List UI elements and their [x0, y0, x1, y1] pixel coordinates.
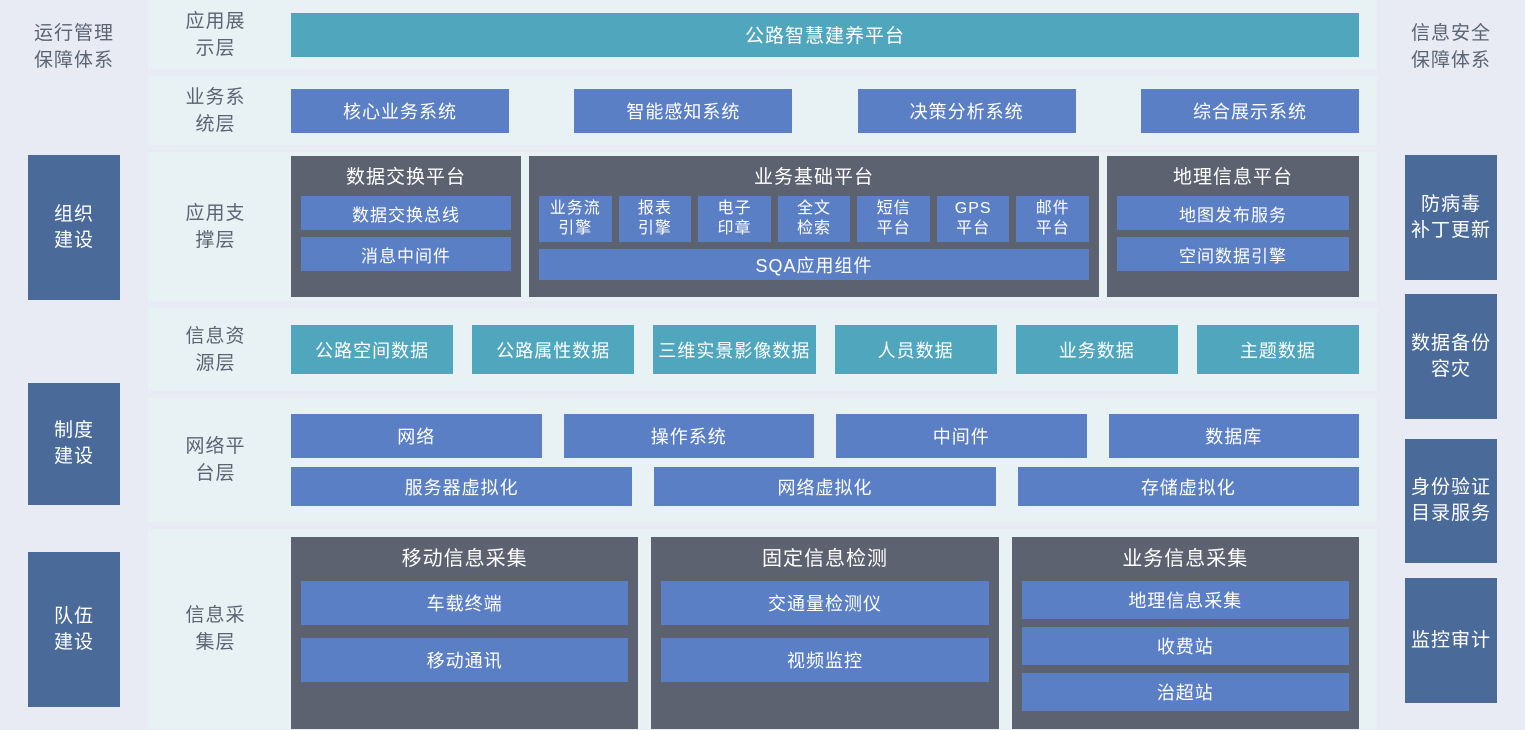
engine-mail-platform-line2: 平台 [1036, 219, 1070, 239]
message-middleware[interactable]: 消息中间件 [301, 237, 511, 271]
engine-e-seal[interactable]: 电子 印章 [698, 196, 771, 242]
layer-label-network-line1: 网络平 [185, 433, 245, 460]
panel-gis: 地理信息平台 地图发布服务 空间数据引擎 [1107, 156, 1359, 297]
engine-fulltext-search-line2: 检索 [797, 219, 831, 239]
layer-label-resource-line2: 源层 [185, 350, 245, 377]
network-item-server-virtualization[interactable]: 服务器虚拟化 [291, 467, 632, 506]
panel-business-platform: 业务基础平台 业务流 引擎 报表 引擎 [529, 156, 1099, 297]
business-platform-engines: 业务流 引擎 报表 引擎 [539, 196, 1089, 242]
left-column-title-line1: 运行管理 [0, 20, 148, 47]
layer-row-collection: 信息采 集层 移动信息采集 车载终端 移动通讯 固定信息检测 交通量检测仪 视频… [148, 529, 1377, 729]
layer-label-business-line2: 统层 [185, 111, 245, 138]
platform-banner[interactable]: 公路智慧建养平台 [291, 13, 1359, 57]
data-exchange-bus[interactable]: 数据交换总线 [301, 196, 511, 230]
engine-workflow-line2: 引擎 [550, 219, 601, 239]
layer-row-resource: 信息资 源层 公路空间数据 公路属性数据 三维实景影像数据 人员数据 业务数据 … [148, 308, 1377, 391]
right-box-backup-line2: 容灾 [1411, 357, 1491, 383]
engine-fulltext-search[interactable]: 全文 检索 [778, 196, 851, 242]
layer-label-resource-line1: 信息资 [185, 323, 245, 350]
engine-e-seal-line2: 印章 [717, 219, 751, 239]
network-item-storage-virtualization[interactable]: 存储虚拟化 [1018, 467, 1359, 506]
panel-business-collection-title: 业务信息采集 [1022, 545, 1349, 573]
left-box-organization-line2: 建设 [54, 228, 94, 254]
right-box-antivirus-patch-line1: 防病毒 [1411, 192, 1491, 218]
left-box-institution-line2: 建设 [54, 444, 94, 470]
right-box-identity-line2: 目录服务 [1411, 501, 1491, 527]
layer-label-business: 业务系 统层 [148, 76, 283, 145]
right-column-title-line2: 保障体系 [1377, 47, 1525, 74]
right-box-identity-line1: 身份验证 [1411, 475, 1491, 501]
map-publish-service[interactable]: 地图发布服务 [1117, 196, 1349, 230]
spatial-data-engine[interactable]: 空间数据引擎 [1117, 237, 1349, 271]
panel-business-platform-title: 业务基础平台 [539, 164, 1089, 192]
resource-personnel-data[interactable]: 人员数据 [835, 325, 997, 374]
layer-body-display: 公路智慧建养平台 [283, 0, 1377, 69]
sqa-application-component[interactable]: SQA应用组件 [539, 249, 1089, 280]
layers-stack: 应用展 示层 公路智慧建养平台 业务系 统层 核心业务系统 智能感知系统 [148, 0, 1377, 730]
right-column-title-line1: 信息安全 [1377, 20, 1525, 47]
network-line-1: 网络 操作系统 中间件 数据库 [291, 414, 1359, 458]
layer-label-collection-line1: 信息采 [185, 602, 245, 629]
left-box-institution[interactable]: 制度 建设 [28, 383, 120, 505]
right-box-monitoring-audit[interactable]: 监控审计 [1405, 578, 1497, 703]
gis-collection[interactable]: 地理信息采集 [1022, 581, 1349, 619]
left-box-team[interactable]: 队伍 建设 [28, 552, 120, 707]
layer-row-business: 业务系 统层 核心业务系统 智能感知系统 决策分析系统 综合展示系统 [148, 76, 1377, 145]
business-system-presentation[interactable]: 综合展示系统 [1141, 89, 1359, 133]
engine-report-line1: 报表 [638, 199, 672, 219]
engine-sms-platform-line1: 短信 [877, 199, 911, 219]
network-item-network-virtualization[interactable]: 网络虚拟化 [654, 467, 995, 506]
spacer [1076, 89, 1141, 133]
layer-row-support: 应用支 撑层 数据交换平台 数据交换总线 消息中间件 业务基础平台 [148, 152, 1377, 301]
video-surveillance[interactable]: 视频监控 [661, 638, 988, 682]
business-systems-list: 核心业务系统 智能感知系统 决策分析系统 综合展示系统 [283, 89, 1359, 133]
layer-body-network: 网络 操作系统 中间件 数据库 服务器虚拟化 网络虚拟化 存储虚拟化 [283, 398, 1377, 522]
layer-label-support: 应用支 撑层 [148, 152, 283, 301]
architecture-diagram: 运行管理 保障体系 组织 建设 制度 建设 队伍 建设 [0, 0, 1525, 730]
business-system-decision[interactable]: 决策分析系统 [858, 89, 1076, 133]
layer-label-support-line2: 撑层 [185, 227, 245, 254]
left-box-organization[interactable]: 组织 建设 [28, 155, 120, 300]
network-items: 网络 操作系统 中间件 数据库 服务器虚拟化 网络虚拟化 存储虚拟化 [283, 414, 1359, 506]
network-item-os[interactable]: 操作系统 [564, 414, 815, 458]
layer-body-resource: 公路空间数据 公路属性数据 三维实景影像数据 人员数据 业务数据 主题数据 [283, 308, 1377, 391]
right-box-backup-disaster-recovery[interactable]: 数据备份 容灾 [1405, 294, 1497, 419]
collection-panels: 移动信息采集 车载终端 移动通讯 固定信息检测 交通量检测仪 视频监控 业务信息… [283, 537, 1359, 729]
layer-label-display-line2: 示层 [185, 35, 245, 62]
right-box-identity-directory[interactable]: 身份验证 目录服务 [1405, 439, 1497, 563]
left-box-institution-line1: 制度 [54, 418, 94, 444]
layer-body-business: 核心业务系统 智能感知系统 决策分析系统 综合展示系统 [283, 76, 1377, 145]
network-item-network[interactable]: 网络 [291, 414, 542, 458]
panel-fixed-detection: 固定信息检测 交通量检测仪 视频监控 [651, 537, 998, 729]
engine-workflow[interactable]: 业务流 引擎 [539, 196, 612, 242]
engine-e-seal-line1: 电子 [717, 199, 751, 219]
engine-report[interactable]: 报表 引擎 [619, 196, 692, 242]
toll-station[interactable]: 收费站 [1022, 627, 1349, 665]
engine-gps-platform-line2: 平台 [955, 219, 992, 239]
panel-business-collection: 业务信息采集 地理信息采集 收费站 治超站 [1012, 537, 1359, 729]
network-item-database[interactable]: 数据库 [1109, 414, 1360, 458]
engine-sms-platform-line2: 平台 [877, 219, 911, 239]
layer-label-business-line1: 业务系 [185, 84, 245, 111]
left-column-title: 运行管理 保障体系 [0, 20, 148, 74]
layer-label-support-line1: 应用支 [185, 200, 245, 227]
engine-mail-platform[interactable]: 邮件 平台 [1016, 196, 1089, 242]
panel-data-exchange-title: 数据交换平台 [301, 164, 511, 192]
left-support-column: 运行管理 保障体系 组织 建设 制度 建设 队伍 建设 [0, 0, 148, 730]
resource-business-data[interactable]: 业务数据 [1016, 325, 1178, 374]
panel-mobile-collection-title: 移动信息采集 [301, 545, 628, 573]
spacer [792, 89, 857, 133]
resource-road-spatial-data[interactable]: 公路空间数据 [291, 325, 453, 374]
layer-label-collection-line2: 集层 [185, 629, 245, 656]
layer-label-resource: 信息资 源层 [148, 308, 283, 391]
resource-3d-imagery-data[interactable]: 三维实景影像数据 [653, 325, 815, 374]
engine-mail-platform-line1: 邮件 [1036, 199, 1070, 219]
overload-control-station[interactable]: 治超站 [1022, 673, 1349, 711]
mobile-communication[interactable]: 移动通讯 [301, 638, 628, 682]
layer-label-display: 应用展 示层 [148, 0, 283, 69]
layer-label-network-line2: 台层 [185, 460, 245, 487]
layer-body-collection: 移动信息采集 车载终端 移动通讯 固定信息检测 交通量检测仪 视频监控 业务信息… [283, 529, 1377, 729]
left-box-team-line2: 建设 [54, 630, 94, 656]
layer-row-display: 应用展 示层 公路智慧建养平台 [148, 0, 1377, 69]
left-box-team-line1: 队伍 [54, 604, 94, 630]
support-panels: 数据交换平台 数据交换总线 消息中间件 业务基础平台 业务流 引擎 [283, 156, 1359, 297]
engine-report-line2: 引擎 [638, 219, 672, 239]
layer-body-support: 数据交换平台 数据交换总线 消息中间件 业务基础平台 业务流 引擎 [283, 152, 1377, 301]
layer-row-network: 网络平 台层 网络 操作系统 中间件 数据库 服务器虚拟化 网络虚拟化 存储虚拟… [148, 398, 1377, 522]
traffic-volume-detector[interactable]: 交通量检测仪 [661, 581, 988, 625]
engine-workflow-line1: 业务流 [550, 199, 601, 219]
panel-mobile-collection: 移动信息采集 车载终端 移动通讯 [291, 537, 638, 729]
right-security-column: 信息安全 保障体系 防病毒 补丁更新 数据备份 容灾 身份验证 目录服务 监控审… [1377, 0, 1525, 730]
network-item-middleware[interactable]: 中间件 [836, 414, 1087, 458]
vehicle-terminal[interactable]: 车载终端 [301, 581, 628, 625]
resource-items-list: 公路空间数据 公路属性数据 三维实景影像数据 人员数据 业务数据 主题数据 [283, 325, 1359, 374]
network-line-2: 服务器虚拟化 网络虚拟化 存储虚拟化 [291, 467, 1359, 506]
layer-label-collection: 信息采 集层 [148, 529, 283, 729]
panel-gis-title: 地理信息平台 [1117, 164, 1349, 192]
layer-label-network: 网络平 台层 [148, 398, 283, 522]
engine-gps-platform-line1: GPS [955, 199, 992, 219]
resource-road-attribute-data[interactable]: 公路属性数据 [472, 325, 634, 374]
right-box-antivirus-patch[interactable]: 防病毒 补丁更新 [1405, 155, 1497, 280]
right-box-backup-line1: 数据备份 [1411, 331, 1491, 357]
left-box-organization-line1: 组织 [54, 202, 94, 228]
engine-gps-platform[interactable]: GPS 平台 [937, 196, 1010, 242]
panel-fixed-detection-title: 固定信息检测 [661, 545, 988, 573]
business-system-core[interactable]: 核心业务系统 [291, 89, 509, 133]
business-system-sensing[interactable]: 智能感知系统 [574, 89, 792, 133]
engine-fulltext-search-line1: 全文 [797, 199, 831, 219]
right-box-antivirus-patch-line2: 补丁更新 [1411, 218, 1491, 244]
engine-sms-platform[interactable]: 短信 平台 [857, 196, 930, 242]
resource-thematic-data[interactable]: 主题数据 [1197, 325, 1359, 374]
panel-data-exchange: 数据交换平台 数据交换总线 消息中间件 [291, 156, 521, 297]
right-box-monitoring-audit-line1: 监控审计 [1411, 628, 1491, 654]
left-column-title-line2: 保障体系 [0, 47, 148, 74]
layer-label-display-line1: 应用展 [185, 8, 245, 35]
spacer [509, 89, 574, 133]
right-column-title: 信息安全 保障体系 [1377, 20, 1525, 74]
